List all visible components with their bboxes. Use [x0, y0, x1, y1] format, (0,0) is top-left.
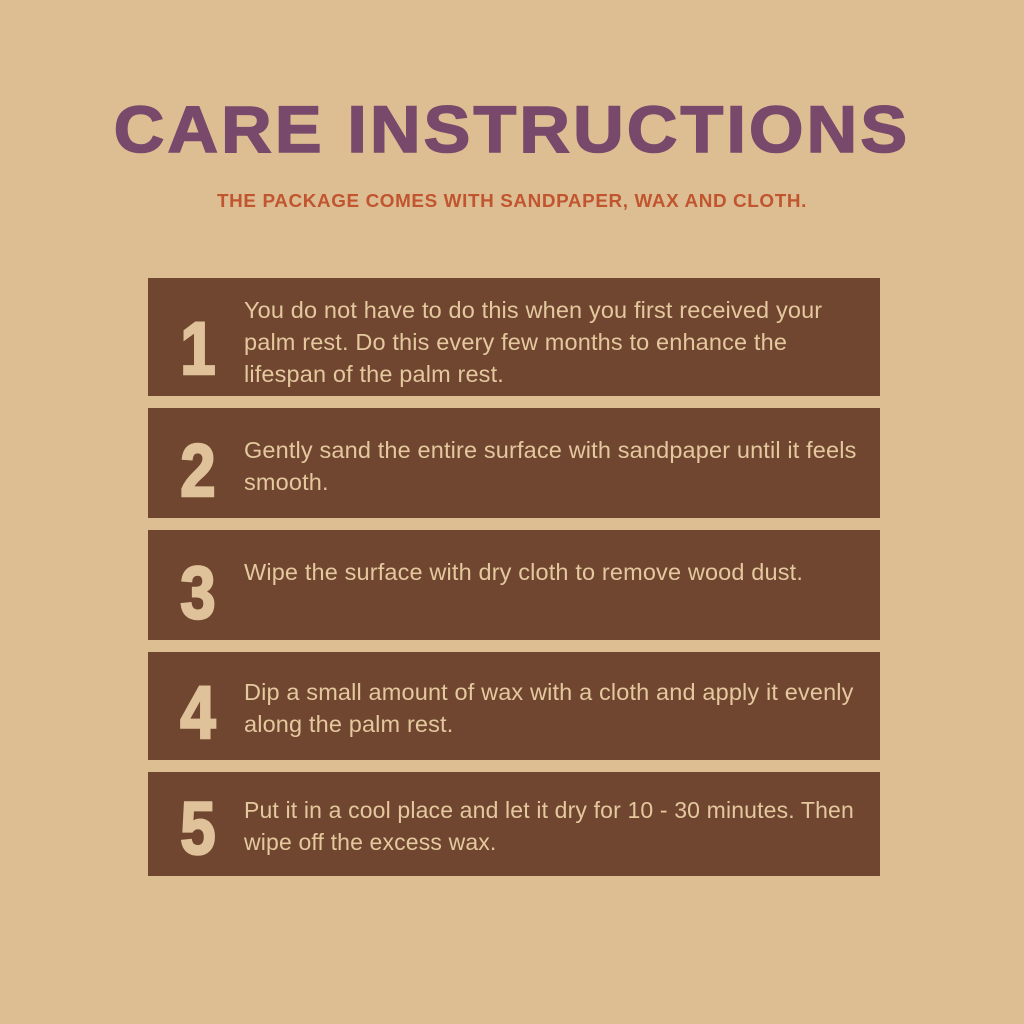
page-subtitle: The package comes with sandpaper, wax an… [0, 162, 1024, 212]
care-instructions-poster: Care Instructions The package comes with… [0, 0, 1024, 1024]
page-title: Care Instructions [0, 96, 1024, 162]
step-description: Dip a small amount of wax with a cloth a… [234, 666, 870, 746]
step-number-badge: 1 [167, 292, 229, 382]
step-number-badge: 4 [167, 666, 229, 746]
step-item: 2 Gently sand the entire surface with sa… [148, 408, 880, 518]
step-number-badge: 2 [167, 422, 229, 504]
poster-header: Care Instructions The package comes with… [0, 0, 1024, 212]
step-item: 5 Put it in a cool place and let it dry … [148, 772, 880, 876]
step-item: 3 Wipe the surface with dry cloth to rem… [148, 530, 880, 640]
step-item: 4 Dip a small amount of wax with a cloth… [148, 652, 880, 760]
step-item: 1 You do not have to do this when you fi… [148, 278, 880, 396]
step-description: Put it in a cool place and let it dry fo… [234, 786, 870, 862]
step-description: You do not have to do this when you firs… [234, 292, 870, 382]
step-number-badge: 3 [167, 544, 229, 626]
step-description: Wipe the surface with dry cloth to remov… [234, 544, 870, 626]
step-number-badge: 5 [167, 786, 229, 862]
steps-list: 1 You do not have to do this when you fi… [148, 278, 880, 888]
step-description: Gently sand the entire surface with sand… [234, 422, 870, 504]
